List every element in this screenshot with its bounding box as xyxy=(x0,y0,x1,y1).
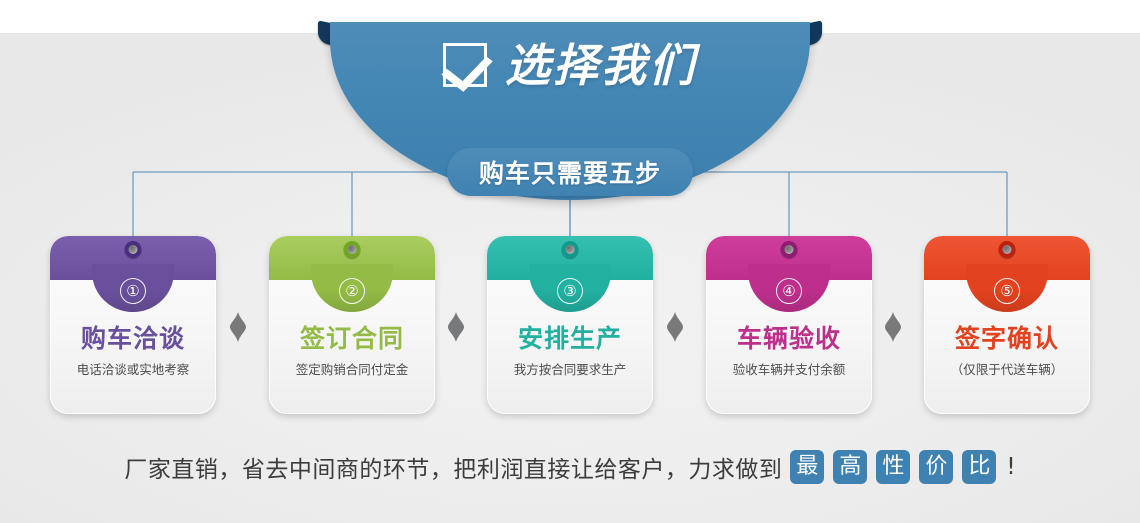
footer-chip-3: 性 xyxy=(876,450,910,484)
grommet-hole-icon-5 xyxy=(999,241,1016,258)
step-card-1[interactable]: ① 购车洽谈 电话洽谈或实地考察 xyxy=(50,236,216,414)
banner-title: 选择我们 xyxy=(505,43,697,88)
step-card-4[interactable]: ④ 车辆验收 验收车辆并支付余额 xyxy=(706,236,872,414)
infographic-canvas: 选择我们 购车只需要五步 ① 购车洽谈 电话洽谈或实地考察 ② 签订合同 xyxy=(0,0,1140,523)
footer-chip-1: 最 xyxy=(790,450,824,484)
footer-tagline: 厂家直销，省去中间商的环节，把利润直接让给客户，力求做到 最高性价比 ! xyxy=(0,440,1140,494)
step-arrow-1-2 xyxy=(229,312,247,342)
step-number-5: ⑤ xyxy=(994,278,1020,304)
step-title-1: 购车洽谈 xyxy=(50,326,216,351)
step-subtitle-5: （仅限于代送车辆） xyxy=(924,364,1090,377)
step-subtitle-1: 电话洽谈或实地考察 xyxy=(50,364,216,377)
steps-row: ① 购车洽谈 电话洽谈或实地考察 ② 签订合同 签定购销合同付定金 ③ 安排生产… xyxy=(0,236,1140,418)
footer-chip-2: 高 xyxy=(833,450,867,484)
step-subtitle-2: 签定购销合同付定金 xyxy=(269,364,435,377)
footer-lead-text: 厂家直销，省去中间商的环节，把利润直接让给客户，力求做到 xyxy=(124,450,782,484)
step-card-5[interactable]: ⑤ 签字确认 （仅限于代送车辆） xyxy=(924,236,1090,414)
step-subtitle-4: 验收车辆并支付余额 xyxy=(706,364,872,377)
step-number-4: ④ xyxy=(776,278,802,304)
footer-chip-group: 最高性价比 xyxy=(790,450,996,484)
step-arrow-4-5 xyxy=(884,312,902,342)
footer-tail-text: ! xyxy=(1006,454,1015,480)
step-title-2: 签订合同 xyxy=(269,326,435,351)
step-subtitle-3: 我方按合同要求生产 xyxy=(487,364,653,377)
grommet-hole-icon-2 xyxy=(344,241,361,258)
footer-chip-4: 价 xyxy=(919,450,953,484)
grommet-hole-icon-1 xyxy=(125,241,142,258)
subtitle-text: 购车只需要五步 xyxy=(479,154,661,190)
step-arrow-3-4 xyxy=(666,312,684,342)
step-card-2[interactable]: ② 签订合同 签定购销合同付定金 xyxy=(269,236,435,414)
header-banner: 选择我们 xyxy=(318,0,822,112)
checkbox-checked-icon xyxy=(443,43,487,87)
step-title-5: 签字确认 xyxy=(924,326,1090,351)
step-number-3: ③ xyxy=(557,278,583,304)
step-number-1: ① xyxy=(120,278,146,304)
step-card-3[interactable]: ③ 安排生产 我方按合同要求生产 xyxy=(487,236,653,414)
banner-content: 选择我们 xyxy=(330,22,810,108)
grommet-hole-icon-3 xyxy=(562,241,579,258)
step-title-3: 安排生产 xyxy=(487,326,653,351)
grommet-hole-icon-4 xyxy=(781,241,798,258)
subtitle-pill: 购车只需要五步 xyxy=(447,148,693,196)
step-arrow-2-3 xyxy=(447,312,465,342)
footer-chip-5: 比 xyxy=(962,450,996,484)
step-title-4: 车辆验收 xyxy=(706,326,872,351)
step-number-2: ② xyxy=(339,278,365,304)
